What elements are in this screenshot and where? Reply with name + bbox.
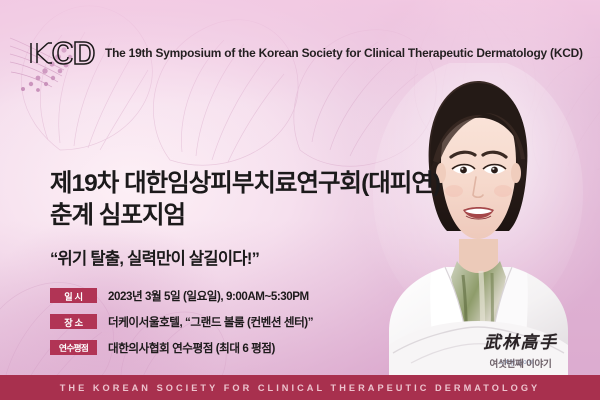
kcd-logo-icon [28, 40, 96, 66]
detail-row-venue: 장 소 더케이서울호텔, “그랜드 볼룸 (컨벤션 센터)” [50, 313, 313, 330]
detail-label-credits: 연수평점 [50, 340, 97, 356]
header-title: The 19th Symposium of the Korean Society… [105, 46, 583, 60]
footer-text: THE KOREAN SOCIETY FOR CLINICAL THERAPEU… [60, 383, 540, 393]
footer-bar: THE KOREAN SOCIETY FOR CLINICAL THERAPEU… [0, 375, 600, 400]
detail-row-credits: 연수평점 대한의사협회 연수평점 (최대 6 평점) [50, 339, 313, 356]
poster-header: The 19th Symposium of the Korean Society… [28, 40, 600, 66]
detail-value-credits: 대한의사협회 연수평점 (최대 6 평점) [108, 340, 275, 356]
calligraphy-block: 武林高手 여섯번째 이야기 [463, 335, 578, 370]
detail-value-venue: 더케이서울호텔, “그랜드 볼룸 (컨벤션 센터)” [108, 314, 313, 330]
title-line-1: 제19차 대한임상피부치료연구회(대피연) [50, 168, 440, 200]
calligraphy-sub-text: 여섯번째 이야기 [463, 356, 578, 370]
event-details: 일 시 2023년 3월 5일 (일요일), 9:00AM~5:30PM 장 소… [50, 287, 313, 356]
calligraphy-main-text: 武林高手 [463, 335, 578, 352]
title-line-2: 춘계 심포지엄 [50, 200, 440, 232]
symposium-poster: 이지함 송이복 [0, 0, 600, 400]
detail-row-date: 일 시 2023년 3월 5일 (일요일), 9:00AM~5:30PM [50, 287, 313, 304]
detail-label-venue: 장 소 [50, 314, 97, 330]
title-block: 제19차 대한임상피부치료연구회(대피연) 춘계 심포지엄 “위기 탈출, 실력… [50, 168, 440, 269]
detail-label-date: 일 시 [50, 288, 97, 304]
detail-value-date: 2023년 3월 5일 (일요일), 9:00AM~5:30PM [108, 288, 309, 304]
slogan-quote: “위기 탈출, 실력만이 살길이다!” [50, 245, 440, 269]
